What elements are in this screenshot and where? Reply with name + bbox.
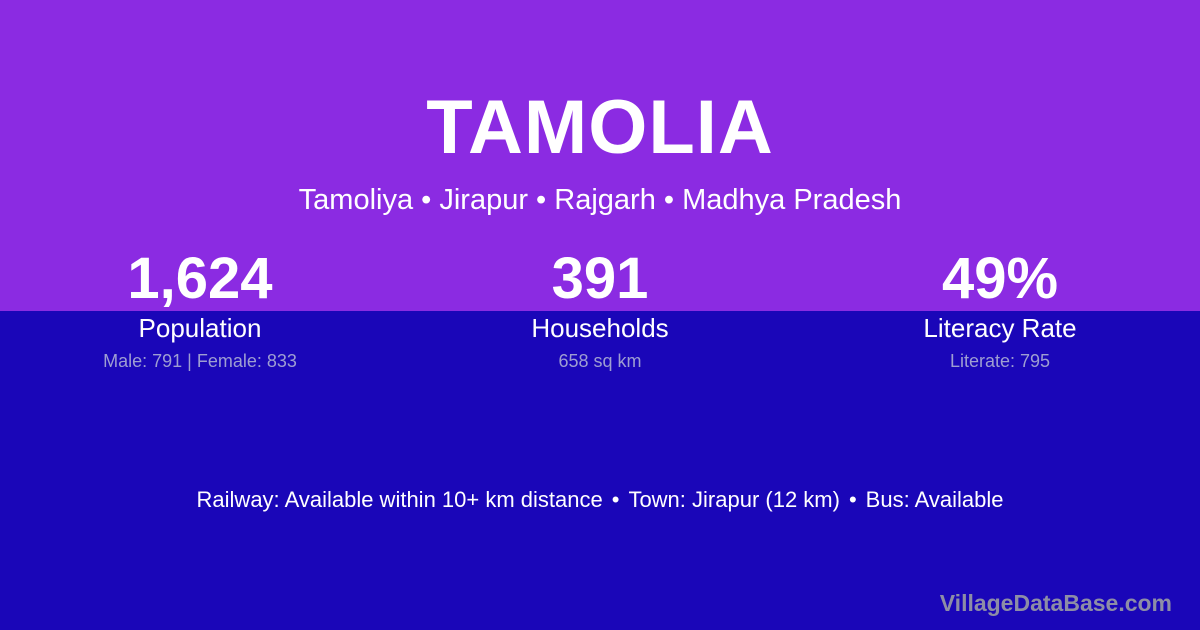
bullet-separator-icon: •	[840, 486, 866, 514]
facility-bus: Bus: Available	[866, 487, 1004, 512]
stat-population: 1,624 Population Male: 791 | Female: 833	[0, 248, 400, 372]
stat-value: 391	[400, 248, 800, 310]
bullet-separator-icon: •	[603, 486, 629, 514]
stat-label: Population	[0, 312, 400, 344]
page-title: TAMOLIA	[0, 85, 1200, 171]
stat-value: 1,624	[0, 248, 400, 310]
stat-sublabel: Male: 791 | Female: 833	[0, 350, 400, 372]
breadcrumb: Tamoliya • Jirapur • Rajgarh • Madhya Pr…	[0, 181, 1200, 219]
stat-value: 49%	[800, 248, 1200, 310]
brand-watermark: VillageDataBase.com	[940, 588, 1172, 618]
facilities-line: Railway: Available within 10+ km distanc…	[0, 486, 1200, 514]
stat-literacy-rate: 49% Literacy Rate Literate: 795	[800, 248, 1200, 372]
stats-row: 1,624 Population Male: 791 | Female: 833…	[0, 248, 1200, 372]
stat-sublabel: Literate: 795	[800, 350, 1200, 372]
stat-sublabel: 658 sq km	[400, 350, 800, 372]
stat-households: 391 Households 658 sq km	[400, 248, 800, 372]
facility-railway: Railway: Available within 10+ km distanc…	[197, 487, 603, 512]
card-content: TAMOLIA Tamoliya • Jirapur • Rajgarh • M…	[0, 0, 1200, 630]
stat-label: Households	[400, 312, 800, 344]
stat-label: Literacy Rate	[800, 312, 1200, 344]
village-info-card: TAMOLIA Tamoliya • Jirapur • Rajgarh • M…	[0, 0, 1200, 630]
facility-town: Town: Jirapur (12 km)	[628, 487, 840, 512]
